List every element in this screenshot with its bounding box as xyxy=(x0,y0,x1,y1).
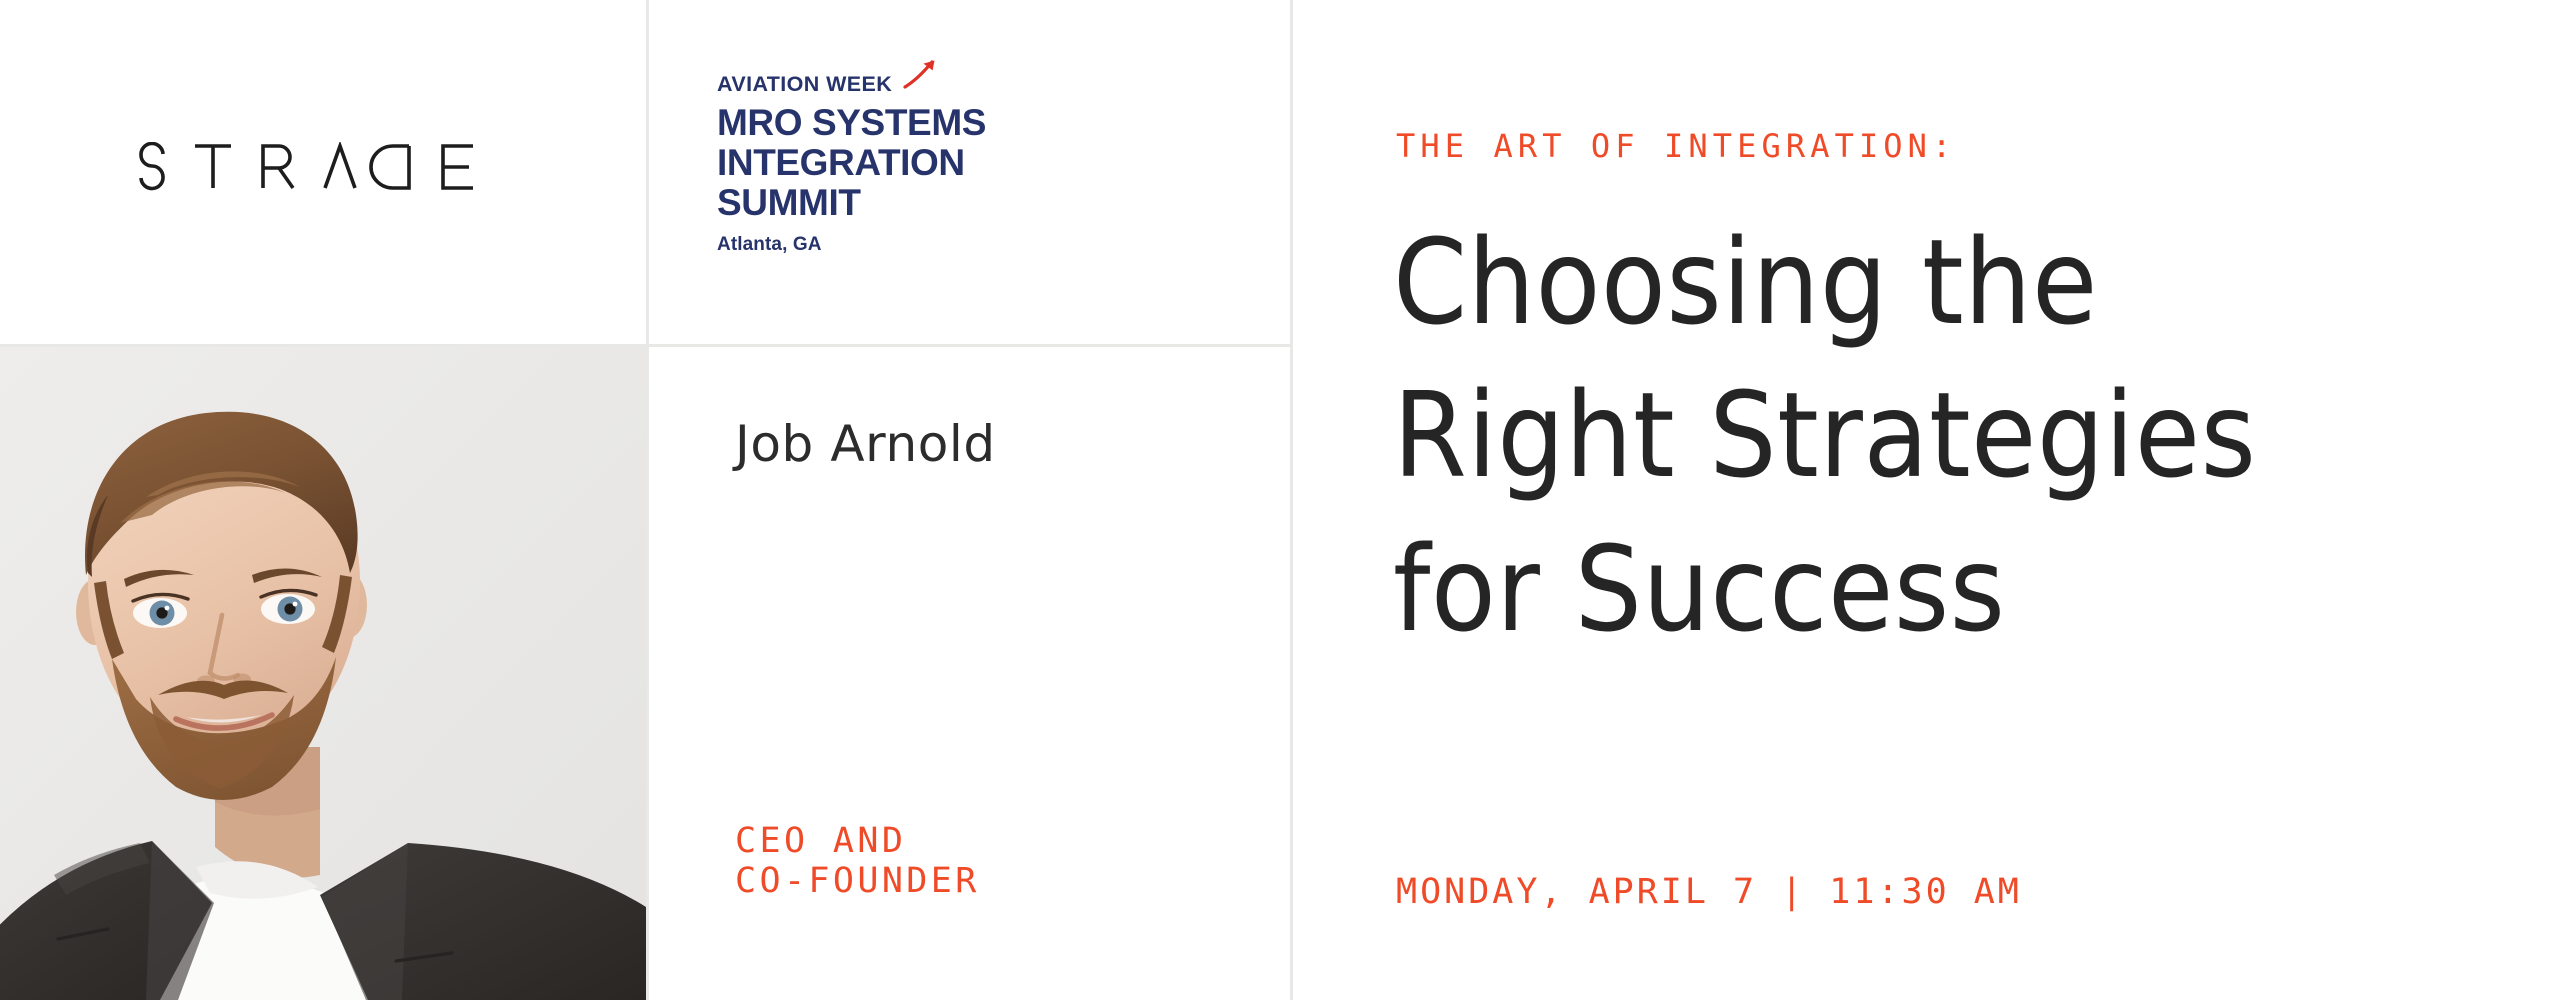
event-logo-main: MRO SYSTEMS INTEGRATION SUMMIT xyxy=(717,103,1047,223)
talk-eyebrow: THE ART OF INTEGRATION: xyxy=(1396,127,1956,165)
event-logo-kicker: AVIATION WEEK xyxy=(717,74,1047,96)
brand-logo-cell xyxy=(0,0,646,344)
talk-title-line-2: Right Strategies xyxy=(1393,359,2560,512)
event-logo-line-2: INTEGRATION xyxy=(717,142,965,183)
speaker-photo-cell xyxy=(0,347,646,1000)
event-logo-city: Atlanta, GA xyxy=(717,234,1047,256)
event-logo-kicker-text: AVIATION WEEK xyxy=(717,72,892,96)
arrow-swoosh-icon xyxy=(903,60,937,88)
talk-datetime: MONDAY, APRIL 7 | 11:30 AM xyxy=(1396,872,2022,912)
speaker-role: CEO AND CO-FOUNDER xyxy=(735,821,980,902)
speaker-role-line-2: CO-FOUNDER xyxy=(735,861,980,901)
event-logo-cell: AVIATION WEEK MRO SYSTEMS INTEGRATION SU… xyxy=(649,0,1290,344)
talk-details-panel: THE ART OF INTEGRATION: Choosing the Rig… xyxy=(1293,0,2560,1000)
strade-logo xyxy=(133,142,513,202)
speaker-info-cell: Job Arnold CEO AND CO-FOUNDER xyxy=(649,347,1290,1000)
event-logo-line-3: SUMMIT xyxy=(717,182,861,223)
event-logo-line-1: MRO SYSTEMS xyxy=(717,102,986,143)
speaker-role-line-1: CEO AND xyxy=(735,821,906,861)
speaker-announcement-card: AVIATION WEEK MRO SYSTEMS INTEGRATION SU… xyxy=(0,0,2560,1000)
talk-title-line-1: Choosing the xyxy=(1393,206,2560,359)
talk-title-line-3: for Success xyxy=(1393,513,2560,666)
headshot-photo xyxy=(0,347,646,1000)
event-logo: AVIATION WEEK MRO SYSTEMS INTEGRATION SU… xyxy=(717,74,1047,256)
talk-title: Choosing the Right Strategies for Succes… xyxy=(1393,206,2560,666)
speaker-name: Job Arnold xyxy=(735,415,996,473)
